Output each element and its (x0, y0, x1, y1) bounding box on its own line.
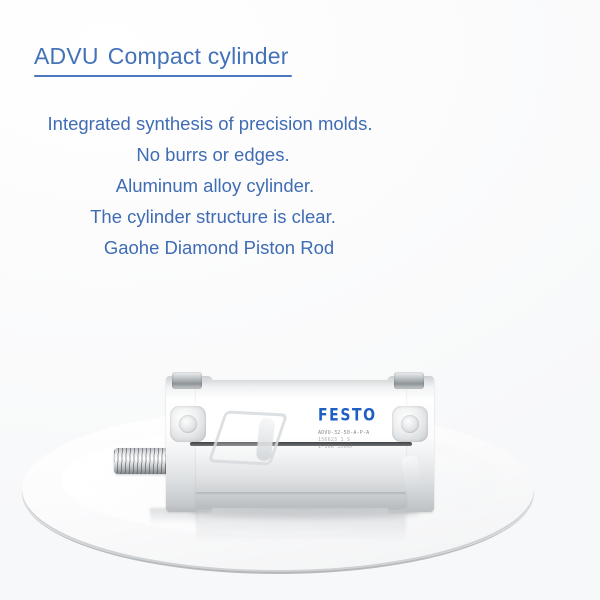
title-underline (34, 75, 292, 77)
product-name: Compact cylinder (108, 43, 289, 69)
feature-line: The cylinder structure is clear. (0, 201, 420, 232)
feature-list: Integrated synthesis of precision molds.… (0, 108, 420, 263)
festo-logo: FESTO (318, 407, 377, 426)
tie-rod-nub-right (394, 372, 424, 389)
product-stage: FESTO ADVU-32-50-A-P-A 156623 1 S 1-10K … (0, 330, 600, 600)
product-code: ADVU (34, 43, 99, 69)
headline-block: ADVUCompact cylinder (34, 44, 454, 77)
page-title: ADVUCompact cylinder (34, 44, 454, 69)
air-port-left (170, 406, 206, 442)
label-pressure: 1-10K 350kP (318, 444, 394, 451)
product-banner: ADVUCompact cylinder Integrated synthesi… (0, 0, 600, 600)
rod-reflection (150, 508, 198, 524)
piston-rod (114, 448, 174, 474)
pneumatic-cylinder: FESTO ADVU-32-50-A-P-A 156623 1 S 1-10K … (160, 372, 435, 517)
air-port-right (392, 406, 428, 442)
feature-line: No burrs or edges. (0, 139, 420, 170)
tie-rod-nub-left (172, 372, 202, 389)
label-part-number: ADVU-32-50-A-P-A (318, 430, 394, 437)
product-reflection (196, 508, 406, 542)
feature-line: Integrated synthesis of precision molds. (0, 108, 420, 139)
product-label: ADVU-32-50-A-P-A 156623 1 S 1-10K 350kP (318, 430, 394, 451)
label-serial: 156623 1 S (318, 437, 394, 444)
sensor-groove-secondary (196, 492, 406, 495)
feature-line: Gaohe Diamond Piston Rod (0, 232, 420, 263)
feature-line: Aluminum alloy cylinder. (0, 170, 420, 201)
